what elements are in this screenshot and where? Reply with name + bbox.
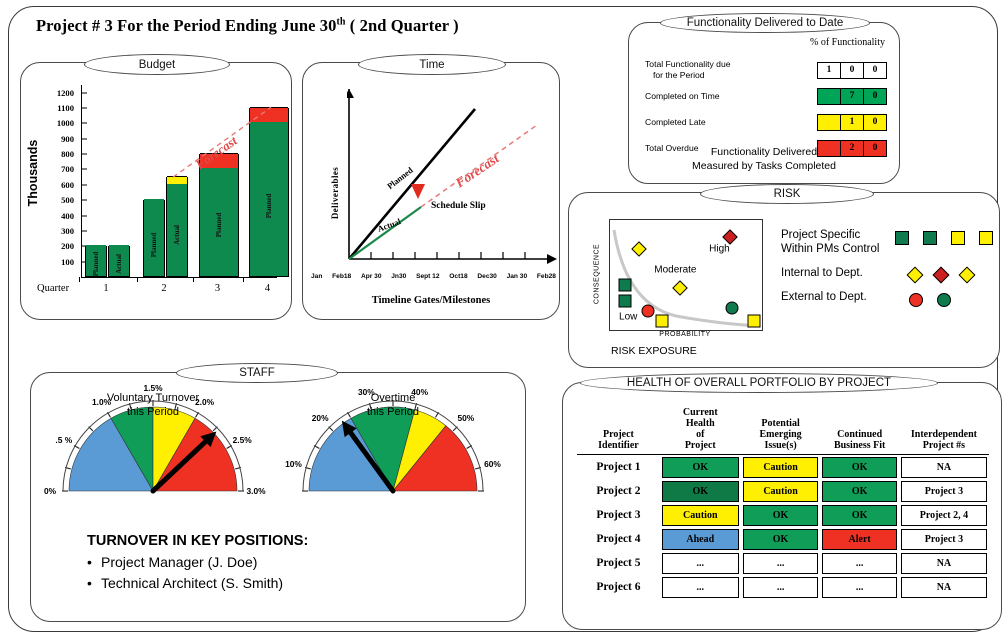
gauge-tick-label: 3.0% (246, 486, 265, 496)
health-project-identifier: Project 3 (577, 503, 660, 527)
time-plot-area: PlannedActualSchedule SlipForecast (347, 89, 545, 259)
table-row[interactable]: Project 3CautionOKOKProject 2, 4 (577, 503, 989, 527)
risk-legend-marker-circle (937, 293, 951, 307)
health-column-header: Project (661, 440, 740, 451)
gauge1-caption-line1: Overtime (293, 391, 493, 405)
risk-exposure-label: RISK EXPOSURE (611, 345, 697, 357)
gauge-voluntary-turnover-caption: Voluntary Turnover this Period (53, 391, 253, 420)
health-column-header: Issue(s) (742, 440, 820, 451)
health-status-cell[interactable]: ... (743, 553, 819, 574)
health-header-cell: ContinuedBusiness Fit (820, 405, 898, 455)
health-header-cell: PotentialEmergingIssue(s) (741, 405, 821, 455)
budget-bar-segment-overrun (167, 176, 187, 184)
risk-legend-marker-square (895, 231, 909, 245)
risk-marker-square (619, 295, 632, 308)
budget-y-tick: 900 (61, 134, 81, 144)
risk-marker-circle (642, 305, 655, 318)
health-table-cell: ... (660, 575, 741, 599)
risk-marker-square (655, 315, 668, 328)
page-title-sup: th (336, 17, 345, 28)
time-x-tick-label: Sept 12 (416, 273, 439, 280)
table-row[interactable]: Project 5.........NA (577, 551, 989, 575)
risk-legend-markers (895, 229, 993, 245)
risk-legend-marker-square (923, 231, 937, 245)
risk-zone-label-high: High (709, 243, 730, 254)
budget-y-tick: 1000 (57, 118, 81, 128)
risk-zone-label-low: Low (619, 311, 637, 322)
health-table-cell: OK (660, 455, 741, 480)
budget-quarter-tick (137, 277, 138, 282)
health-status-cell[interactable]: Alert (822, 529, 896, 550)
risk-legend-markers (909, 267, 973, 281)
risk-x-axis-label: PROBABILITY (609, 331, 761, 338)
health-table-cell: OK (820, 479, 898, 503)
health-status-cell[interactable]: ... (822, 577, 896, 598)
budget-y-tick: 500 (61, 195, 81, 205)
health-status-cell[interactable]: Project 3 (901, 481, 987, 502)
staff-caption: STAFF (176, 363, 338, 383)
functionality-value-cell (818, 115, 841, 130)
budget-y-tick: 800 (61, 149, 81, 159)
health-project-identifier: Project 1 (577, 455, 660, 480)
health-table-header-row: ProjectIdentifierCurrentHealthofProjectP… (577, 405, 989, 455)
health-status-cell[interactable]: OK (743, 505, 819, 526)
health-status-cell[interactable]: ... (662, 553, 739, 574)
health-status-cell[interactable]: ... (662, 577, 739, 598)
risk-legend-label: Internal to Dept. (781, 267, 909, 281)
health-header-cell: InterdependentProject #s (899, 405, 989, 455)
risk-legend-marker-diamond (933, 266, 950, 283)
budget-y-tick-mark (81, 123, 87, 124)
budget-quarter-tick (79, 277, 80, 282)
health-status-cell[interactable]: OK (743, 529, 819, 550)
turnover-items: Project Manager (J. Doe)Technical Archit… (87, 554, 308, 591)
percent-functionality-header: % of Functionality (810, 37, 885, 48)
budget-bar-label: Actual (173, 225, 181, 245)
time-x-tick-label: Dec30 (477, 273, 496, 280)
page-title: Project # 3 For the Period Ending June 3… (36, 16, 459, 36)
functionality-row-label: for the Period (645, 70, 817, 81)
functionality-footer-line2: Measured by Tasks Completed (629, 159, 899, 173)
time-caption: Time (358, 54, 506, 75)
budget-y-tick-mark (81, 200, 87, 201)
turnover-block: TURNOVER IN KEY POSITIONS: Project Manag… (87, 533, 308, 591)
budget-bar: Planned (85, 246, 107, 277)
functionality-value-cell (818, 89, 841, 104)
budget-y-tick: 200 (61, 241, 81, 251)
risk-legend-row: Project SpecificWithin PMs Control (781, 229, 993, 257)
health-table-cell: ... (741, 575, 821, 599)
budget-bar-label: Actual (115, 254, 123, 274)
budget-quarter-tick (243, 277, 244, 282)
budget-x-axis (81, 277, 277, 278)
time-schedule-slip-label: Schedule Slip (431, 201, 486, 211)
risk-marker-square (619, 278, 632, 291)
health-table-cell: OK (820, 503, 898, 527)
budget-y-tick-mark (81, 184, 87, 185)
health-status-cell[interactable]: OK (822, 481, 896, 502)
time-x-tick-label: Feb18 (332, 273, 351, 280)
page-title-tail: ( 2nd Quarter ) (346, 16, 459, 35)
risk-legend-label: Project Specific (781, 229, 895, 243)
health-status-cell[interactable]: Ahead (662, 529, 739, 550)
functionality-panel: % of Functionality Total Functionality d… (628, 22, 900, 184)
health-table-cell: Project 3 (899, 479, 989, 503)
health-table-cell: Ahead (660, 527, 741, 551)
health-column-header: Project #s (900, 440, 988, 451)
functionality-value-cell: 1 (841, 115, 864, 130)
health-header-cell: ProjectIdentifier (577, 405, 660, 455)
gauge-overtime-caption: Overtime this Period (293, 391, 493, 420)
gauge-tick-label: .5 % (55, 435, 72, 445)
health-table-body: Project 1OKCautionOKNAProject 2OKCaution… (577, 455, 989, 600)
health-table-cell: NA (899, 551, 989, 575)
health-table-cell: ... (820, 551, 898, 575)
budget-y-axis-label: Thousands (26, 140, 40, 207)
health-table-cell: OK (660, 479, 741, 503)
risk-y-axis-label: CONSEQUENCE (594, 244, 601, 304)
health-table-cell: OK (741, 527, 821, 551)
risk-marker-square (748, 315, 761, 328)
health-status-cell[interactable]: Caution (743, 481, 819, 502)
health-column-header: Interdependent (900, 429, 988, 440)
budget-bar: Actual (108, 246, 130, 277)
staff-panel: 0%.5 %1.0%1.5%2.0%2.5%3.0% Voluntary Tur… (30, 372, 526, 622)
functionality-value-cells: 10 (817, 114, 887, 131)
gauge1-caption-line2: this Period (293, 405, 493, 419)
health-status-cell[interactable]: NA (901, 457, 987, 478)
table-row[interactable]: Project 2OKCautionOKProject 3 (577, 479, 989, 503)
health-column-header: Emerging (742, 429, 820, 440)
health-table-cell: ... (741, 551, 821, 575)
time-x-tick-label: Oct18 (449, 273, 467, 280)
risk-zone-label-moderate: Moderate (654, 264, 696, 275)
health-table-cell: Caution (741, 479, 821, 503)
budget-y-tick-mark (81, 92, 87, 93)
functionality-value-cell: 0 (864, 89, 886, 104)
budget-bar-label: Planned (92, 252, 100, 277)
health-column-header: Current (661, 407, 740, 418)
health-table-cell: ... (820, 575, 898, 599)
functionality-value-cell: 1 (818, 63, 841, 78)
budget-y-tick-mark (81, 138, 87, 139)
health-column-header: Continued (821, 429, 897, 440)
functionality-value-cell: 0 (864, 63, 886, 78)
health-status-cell[interactable]: ... (822, 553, 896, 574)
budget-quarter-label: 4 (265, 283, 270, 294)
health-table: ProjectIdentifierCurrentHealthofProjectP… (577, 405, 989, 599)
risk-legend-marker-square (979, 231, 993, 245)
budget-quarter-label: 3 (215, 283, 220, 294)
gauge-tick-label: 60% (484, 459, 501, 469)
functionality-footer: Functionality Delivered Measured by Task… (629, 145, 899, 173)
budget-y-tick: 700 (61, 164, 81, 174)
budget-y-tick-mark (81, 154, 87, 155)
health-table-cell: Caution (660, 503, 741, 527)
risk-caption: RISK (700, 184, 874, 204)
table-row[interactable]: Project 6.........NA (577, 575, 989, 599)
health-status-cell[interactable]: OK (822, 505, 896, 526)
health-table-cell: Project 2, 4 (899, 503, 989, 527)
health-header-cell: CurrentHealthofProject (660, 405, 741, 455)
risk-legend-label: Within PMs Control (781, 243, 895, 257)
time-x-tick-labels: JanFeb18Apr 30Jn30Sept 12Oct18Dec30Jan 3… (311, 273, 556, 280)
budget-y-tick-mark (81, 169, 87, 170)
functionality-value-cells: 100 (817, 62, 887, 79)
risk-scatter-area: HighModerateLow (609, 219, 763, 331)
health-column-header: Business Fit (821, 440, 897, 451)
risk-legend-markers (909, 291, 951, 307)
health-status-cell[interactable]: ... (743, 577, 819, 598)
risk-legend-row: External to Dept. (781, 291, 993, 307)
health-status-cell[interactable]: Project 2, 4 (901, 505, 987, 526)
health-column-header: Identifier (578, 440, 659, 451)
functionality-value-cell: 7 (841, 89, 864, 104)
budget-quarter-label: 2 (161, 283, 166, 294)
health-table-cell: Caution (741, 455, 821, 480)
turnover-item: Technical Architect (S. Smith) (87, 575, 308, 591)
functionality-row-label: Completed Late (645, 117, 817, 128)
time-x-tick-label: Feb28 (537, 273, 556, 280)
risk-legend-marker-diamond (959, 266, 976, 283)
functionality-row-label: Completed on Time (645, 91, 817, 102)
budget-bar-label: Planned (215, 213, 223, 238)
budget-bar: Planned (249, 108, 289, 277)
budget-bar: Actual (166, 177, 188, 277)
time-x-tick-label: Jan 30 (507, 273, 528, 280)
budget-y-tick: 600 (61, 180, 81, 190)
time-x-tick-label: Jn30 (391, 273, 406, 280)
health-table-cell: NA (899, 575, 989, 599)
functionality-row: Completed on Time70 (645, 85, 887, 107)
functionality-caption: Functionality Delivered to Date (660, 13, 870, 33)
health-column-header: Potential (742, 418, 820, 429)
dashboard-root: Project # 3 For the Period Ending June 3… (0, 0, 1008, 640)
health-panel: ProjectIdentifierCurrentHealthofProjectP… (562, 382, 1002, 630)
time-x-axis-label: Timeline Gates/Milestones (303, 295, 559, 306)
budget-y-tick: 1200 (57, 88, 81, 98)
table-row[interactable]: Project 4AheadOKAlertProject 3 (577, 527, 989, 551)
health-caption: HEALTH OF OVERALL PORTFOLIO BY PROJECT (580, 373, 938, 393)
turnover-item: Project Manager (J. Doe) (87, 554, 308, 570)
time-y-axis-label: Deliverables (330, 167, 340, 219)
gauge-tick-label: 2.5% (233, 435, 252, 445)
health-status-cell[interactable]: OK (822, 457, 896, 478)
health-status-cell[interactable]: NA (901, 577, 987, 598)
budget-quarter-tick (193, 277, 194, 282)
functionality-row: Completed Late10 (645, 111, 887, 133)
gauge-tick-label: 10% (285, 459, 302, 469)
risk-legend-label: External to Dept. (781, 291, 909, 305)
budget-y-tick: 1100 (57, 103, 81, 113)
health-table-cell: OK (820, 455, 898, 480)
functionality-row-label: Total Functionality due (645, 59, 817, 70)
health-project-identifier: Project 6 (577, 575, 660, 599)
health-column-header: Health (661, 418, 740, 429)
health-project-identifier: Project 4 (577, 527, 660, 551)
table-row[interactable]: Project 1OKCautionOKNA (577, 455, 989, 480)
budget-bar-label: Planned (150, 232, 158, 257)
gauge0-caption-line2: this Period (53, 405, 253, 419)
functionality-value-cells: 70 (817, 88, 887, 105)
health-table-cell: Project 3 (899, 527, 989, 551)
health-table-cell: Alert (820, 527, 898, 551)
risk-panel: CONSEQUENCE HighModerateLow PROBABILITY … (568, 192, 1000, 368)
time-x-tick-label: Jan (311, 273, 322, 280)
budget-plot-area: 120011001000900800700600500400300200100P… (81, 85, 277, 277)
functionality-row: Total Functionality duefor the Period100 (645, 59, 887, 81)
budget-bar-label: Planned (265, 194, 273, 219)
time-panel: Deliverables PlannedActualSchedule SlipF… (302, 62, 560, 320)
risk-legend-row: Internal to Dept. (781, 267, 993, 281)
health-table-cell: NA (899, 455, 989, 480)
health-status-cell[interactable]: Caution (662, 505, 739, 526)
gauge-tick-label: 0% (44, 486, 56, 496)
budget-y-axis (81, 85, 82, 277)
budget-y-tick: 100 (61, 257, 81, 267)
risk-marker-circle (725, 302, 738, 315)
risk-legend-marker-square (951, 231, 965, 245)
health-status-cell[interactable]: OK (662, 457, 739, 478)
budget-y-tick-mark (81, 215, 87, 216)
health-column-header: Project (578, 429, 659, 440)
budget-caption: Budget (84, 54, 230, 75)
health-project-identifier: Project 5 (577, 551, 660, 575)
budget-bar: Planned (199, 154, 239, 277)
budget-quarter-axis-word: Quarter (37, 283, 69, 294)
budget-y-tick: 300 (61, 226, 81, 236)
risk-legend: Project SpecificWithin PMs ControlIntern… (781, 229, 993, 317)
health-column-header: of (661, 429, 740, 440)
health-table-cell: ... (660, 551, 741, 575)
page-title-main: Project # 3 For the Period Ending June 3… (36, 16, 336, 35)
budget-bar-segment-overrun (250, 107, 288, 122)
functionality-value-cell: 0 (841, 63, 864, 78)
time-x-tick-label: Apr 30 (361, 273, 382, 280)
gauge0-caption-line1: Voluntary Turnover (53, 391, 253, 405)
budget-panel: Thousands 120011001000900800700600500400… (20, 62, 292, 320)
budget-y-tick-mark (81, 108, 87, 109)
health-status-cell[interactable]: Caution (743, 457, 819, 478)
health-status-cell[interactable]: Project 3 (901, 529, 987, 550)
turnover-heading: TURNOVER IN KEY POSITIONS: (87, 533, 308, 549)
budget-quarter-label: 1 (103, 283, 108, 294)
health-status-cell[interactable]: OK (662, 481, 739, 502)
health-status-cell[interactable]: NA (901, 553, 987, 574)
risk-legend-marker-circle (909, 293, 923, 307)
functionality-value-cell: 0 (864, 115, 886, 130)
functionality-footer-line1: Functionality Delivered (629, 145, 899, 159)
health-table-cell: OK (741, 503, 821, 527)
budget-bar: Planned (143, 200, 165, 277)
budget-y-tick: 400 (61, 211, 81, 221)
risk-legend-marker-diamond (907, 266, 924, 283)
health-project-identifier: Project 2 (577, 479, 660, 503)
budget-y-tick-mark (81, 230, 87, 231)
